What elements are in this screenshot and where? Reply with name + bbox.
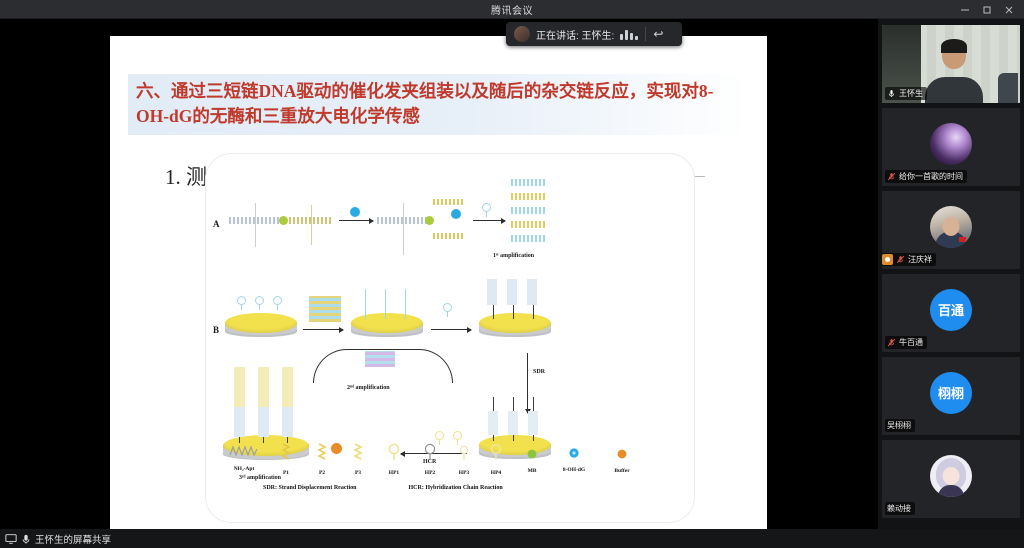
avatar: 百通: [930, 289, 972, 331]
participant-name-badge-1: 给你一首歌的时间: [885, 170, 967, 183]
speaker-avatar: [514, 26, 530, 42]
legend-item-hp1: HP1: [377, 443, 411, 476]
legend-item-buffer: Buffer: [605, 447, 639, 474]
mic-muted-icon: [896, 255, 905, 264]
p-stem-1: [311, 205, 312, 245]
electrode-3-duplex-1: [487, 279, 497, 305]
shared-screen-area[interactable]: 六、通过三短链DNA驱动的催化发夹组装以及随后的杂交链反应，实现对8-OH-dG…: [0, 19, 878, 529]
released-p-2: [433, 233, 463, 239]
legend-item-8ohdg: 8-OH-dG: [557, 446, 591, 473]
legend-item-hp4: HP4: [479, 443, 513, 476]
legend-item-p3: P3: [341, 443, 375, 476]
electrode-3-duplex-2: [507, 279, 517, 305]
hcr-chain-1b: [234, 407, 245, 437]
minimize-icon: [960, 5, 970, 15]
circle-green-icon: [524, 447, 540, 461]
legend-item-p2: P2: [305, 443, 339, 476]
electrode-4-duplex-3: [528, 411, 538, 435]
avatar: [930, 206, 972, 248]
hcr-chain-2a: [258, 367, 269, 407]
host-badge-icon: [882, 254, 893, 265]
reaction-arrow-4: [431, 329, 471, 330]
participant-tile-1[interactable]: 给你一首歌的时间: [882, 108, 1020, 186]
mic-icon: [887, 89, 896, 98]
participant-tile-3[interactable]: 百通 牛百通: [882, 274, 1020, 352]
screen-share-status: 王怀生的屏幕共享: [35, 532, 111, 546]
close-button[interactable]: [998, 0, 1020, 19]
mb-dot-1: [279, 216, 288, 225]
participants-rail[interactable]: 王怀生 给你一首歌的时间: [878, 19, 1024, 529]
audio-wave-icon: [620, 28, 638, 40]
electrode-3: [479, 313, 551, 347]
legend-item-hp2: HP2: [413, 443, 447, 476]
participant-name-3: 牛百通: [899, 337, 923, 348]
minimize-button[interactable]: [954, 0, 976, 19]
reaction-arrow-1: [339, 220, 373, 221]
mb-dot-2: [425, 216, 434, 225]
legend-item-p1: P1: [269, 443, 303, 476]
sdr-definition: SDR: Strand Displacement Reaction: [263, 485, 357, 491]
electrode-2-strand-3: [405, 289, 406, 319]
electrode-4-duplex-1: [488, 411, 498, 435]
close-icon: [1004, 5, 1014, 15]
participant-name-badge-5: 赖动接: [885, 502, 915, 515]
mic-muted-icon: [887, 338, 896, 347]
apt-stem-2: [403, 203, 404, 255]
participant-name-5: 赖动接: [887, 503, 911, 514]
8ohdg-dot-2: [451, 209, 461, 219]
hcr-chain-3b: [282, 407, 293, 437]
avatar: [930, 123, 972, 165]
participant-name-1: 给你一首歌的时间: [899, 171, 963, 182]
window-controls: [954, 0, 1020, 19]
hcr-chain-1a: [234, 367, 245, 407]
8ohdg-dot-1: [350, 207, 360, 217]
electrode-2: [351, 313, 423, 347]
strand-bundle-1: [309, 296, 341, 322]
electrode-1-hairpin-2: [255, 296, 264, 309]
status-bar: 王怀生的屏幕共享: [0, 529, 1024, 548]
strand-bundle-2: [365, 351, 395, 367]
participant-tile-5[interactable]: 赖动接: [882, 440, 1020, 518]
monitor-icon: [5, 533, 17, 545]
maximize-button[interactable]: [976, 0, 998, 19]
hcr-chain-3a: [282, 367, 293, 407]
figure-legend: NH₂-Apt P1 P2 P3: [227, 443, 675, 497]
hairpin-pale-icon: [456, 443, 472, 463]
participant-name-badge-3: 牛百通: [885, 336, 927, 349]
first-amplification-label: 1ˢᵗ amplification: [493, 253, 534, 259]
undo-arrow-icon[interactable]: ↩: [653, 27, 663, 41]
participant-tile-0[interactable]: 王怀生: [882, 25, 1020, 103]
avatar: 栩栩: [930, 372, 972, 414]
participant-tile-4[interactable]: 栩栩 吴栩栩: [882, 357, 1020, 435]
participant-name-badge-0: 王怀生: [885, 87, 927, 100]
panel-a-label: A: [213, 219, 220, 229]
legend-item-mb: MB: [515, 447, 549, 474]
reaction-arrow-3: [303, 329, 343, 330]
burst-blue-icon: [566, 446, 582, 460]
mic-muted-icon: [887, 172, 896, 181]
maximize-icon: [982, 5, 992, 15]
zigzag-yellow-icon: [314, 443, 330, 463]
electrode-3-duplex-3: [527, 279, 537, 305]
participant-name-2: 汪庆祥: [908, 254, 932, 265]
hairpin-icon-b: [443, 303, 452, 316]
hairpin-white-icon: [422, 443, 438, 463]
sdr-label: SDR: [533, 369, 545, 375]
tencent-meeting-window: 腾讯会议 六、通过三短链DNA驱动的催化发夹组装以及随后的杂交链反应，实现对8-…: [0, 0, 1024, 548]
legend-item-hp3: HP3: [447, 443, 481, 476]
electrode-1-hairpin-1: [237, 296, 246, 309]
mic-icon: [21, 533, 31, 545]
electrode-1: [225, 313, 297, 347]
product-strand-2: [511, 193, 545, 200]
product-strand-1: [511, 179, 545, 186]
participant-tile-2[interactable]: 汪庆祥: [882, 191, 1020, 269]
title-bar: 腾讯会议: [0, 0, 1024, 19]
participant-name-4: 吴栩栩: [887, 420, 911, 431]
participant-name-badge-2: 汪庆祥: [882, 253, 936, 266]
hairpin-yellow-icon: [386, 443, 402, 463]
electrode-2-strand-2: [385, 289, 386, 319]
reaction-arrow-2: [473, 220, 505, 221]
released-p-1: [433, 199, 463, 205]
legend-item-nh2apt: NH₂-Apt: [227, 443, 261, 472]
apt-stem-1: [255, 203, 256, 247]
legend-definitions: SDR: Strand Displacement Reaction HCR: H…: [263, 485, 683, 491]
zigzag-yellow-icon: [350, 443, 366, 463]
slide-title: 六、通过三短链DNA驱动的催化发夹组装以及随后的杂交链反应，实现对8-OH-dG…: [128, 74, 748, 135]
hairpin-icon-a: [482, 203, 491, 216]
active-speaker-label: 正在讲话: 王怀生:: [536, 27, 614, 42]
electrode-1-hairpin-3: [273, 296, 282, 309]
avatar: [930, 455, 972, 497]
pill-divider: [645, 27, 646, 41]
hairpin-pale-icon: [488, 443, 504, 463]
hcr-definition: HCR: Hybridization Chain Reaction: [409, 485, 503, 491]
presentation-slide: 六、通过三短链DNA驱动的催化发夹组装以及随后的杂交链反应，实现对8-OH-dG…: [110, 36, 767, 548]
sdr-arrow: [527, 353, 528, 413]
product-strand-3: [511, 207, 545, 214]
product-strand-5: [511, 235, 545, 242]
hcr-chain-2b: [258, 407, 269, 437]
electrode-4-duplex-2: [508, 411, 518, 435]
zigzag-yellow-icon: [278, 443, 294, 463]
product-strand-4: [511, 221, 545, 228]
scheme-figure: A: [205, 153, 695, 523]
window-title: 腾讯会议: [491, 2, 533, 17]
active-speaker-pill[interactable]: 正在讲话: 王怀生: ↩: [506, 22, 682, 46]
participant-name-0: 王怀生: [899, 88, 923, 99]
participant-name-badge-4: 吴栩栩: [885, 419, 915, 432]
zigzag-grey-icon: [229, 443, 259, 459]
electrode-2-strand-1: [365, 289, 366, 319]
circle-orange-icon: [614, 447, 630, 461]
second-amplification-label: 2ⁿᵈ amplification: [347, 385, 390, 391]
panel-b-label: B: [213, 325, 219, 335]
